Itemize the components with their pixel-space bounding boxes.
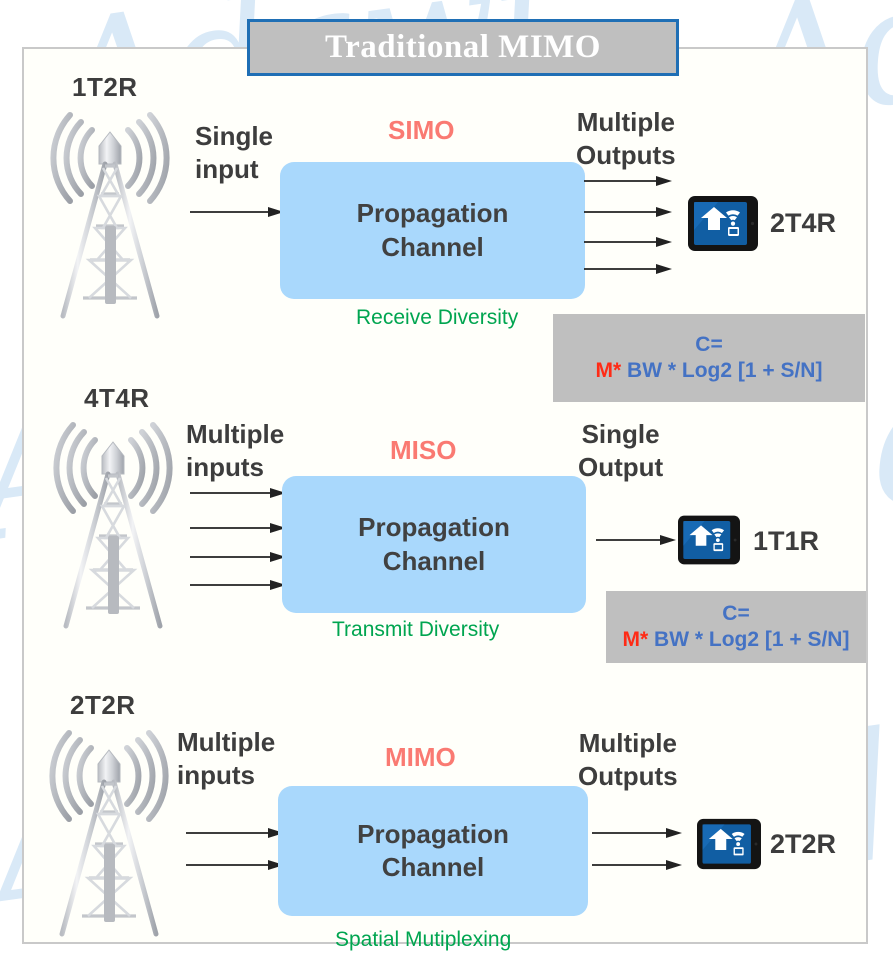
cell-tower-icon — [44, 726, 174, 941]
right-arrow-icon — [584, 263, 674, 275]
output-label-row1: Multiple Outputs — [576, 106, 676, 173]
output-label-line1: Single — [582, 419, 660, 449]
device-label-row1: 2T4R — [770, 208, 836, 239]
right-arrow-icon — [596, 534, 678, 546]
device-label-row3: 2T2R — [770, 829, 836, 860]
input-label-row1: Single input — [195, 120, 273, 187]
tower-label-row1: 1T2R — [72, 72, 138, 103]
channel-line1: Propagation — [358, 511, 510, 544]
right-arrow-icon — [186, 859, 286, 871]
input-label-row3: Multiple inputs — [177, 726, 275, 793]
formula-line2: M* BW * Log2 [1 + S/N] — [596, 358, 823, 384]
output-label-row2: Single Output — [578, 418, 663, 485]
output-label-line2: Outputs — [578, 761, 678, 791]
tablet-home-wifi-icon — [697, 818, 761, 870]
diagram-canvas: Adawi Adawi Adawi Adawi Adawi Adawi 1T2R — [0, 0, 893, 966]
output-label-row3: Multiple Outputs — [578, 727, 678, 794]
propagation-channel-row1: Propagation Channel — [280, 162, 585, 299]
input-label-line1: Single — [195, 121, 273, 151]
input-label-line2: input — [195, 154, 259, 184]
formula-line1: C= — [722, 601, 749, 627]
right-arrow-icon — [592, 827, 684, 839]
input-label-line1: Multiple — [186, 419, 284, 449]
formula-m-term: M* — [596, 359, 622, 382]
input-label-line2: inputs — [186, 452, 264, 482]
page-title: Traditional MIMO — [325, 29, 601, 66]
formula-rest: BW * Log2 [1 + S/N] — [648, 628, 849, 651]
caption-row1: Receive Diversity — [356, 306, 518, 330]
right-arrow-icon — [190, 522, 288, 534]
diagram-content: 1T2R — [0, 0, 893, 966]
cell-tower-icon — [48, 418, 178, 633]
right-arrow-icon — [190, 551, 288, 563]
input-label-row2: Multiple inputs — [186, 418, 284, 485]
input-label-line1: Multiple — [177, 727, 275, 757]
tablet-home-wifi-icon — [678, 515, 740, 565]
mode-label-row1: SIMO — [388, 115, 454, 146]
channel-line1: Propagation — [357, 818, 509, 851]
caption-row2: Transmit Diversity — [332, 618, 499, 642]
channel-line2: Channel — [383, 545, 486, 578]
input-label-line2: inputs — [177, 760, 255, 790]
formula-m-term: M* — [623, 628, 649, 651]
capacity-formula-row2: C= M* BW * Log2 [1 + S/N] — [606, 591, 866, 663]
mode-label-row2: MISO — [390, 435, 456, 466]
right-arrow-icon — [584, 175, 674, 187]
right-arrow-icon — [592, 859, 684, 871]
mode-label-row3: MIMO — [385, 742, 456, 773]
propagation-channel-row2: Propagation Channel — [282, 476, 586, 613]
output-label-line2: Output — [578, 452, 663, 482]
right-arrow-icon — [584, 206, 674, 218]
formula-line2: M* BW * Log2 [1 + S/N] — [623, 627, 850, 653]
channel-line1: Propagation — [357, 197, 509, 230]
output-label-line1: Multiple — [577, 107, 675, 137]
formula-rest: BW * Log2 [1 + S/N] — [621, 359, 822, 382]
formula-line1: C= — [695, 332, 722, 358]
right-arrow-icon — [190, 206, 286, 218]
capacity-formula-row1: C= M* BW * Log2 [1 + S/N] — [553, 314, 865, 402]
caption-row3: Spatial Mutiplexing — [335, 928, 511, 952]
output-label-line2: Outputs — [576, 140, 676, 170]
tower-label-row3: 2T2R — [70, 690, 136, 721]
right-arrow-icon — [190, 579, 288, 591]
channel-line2: Channel — [382, 851, 485, 884]
cell-tower-icon — [45, 108, 175, 323]
right-arrow-icon — [186, 827, 286, 839]
right-arrow-icon — [584, 236, 674, 248]
output-label-line1: Multiple — [579, 728, 677, 758]
channel-line2: Channel — [381, 231, 484, 264]
propagation-channel-row3: Propagation Channel — [278, 786, 588, 916]
tower-label-row2: 4T4R — [84, 383, 150, 414]
diagram-title-box: Traditional MIMO — [247, 19, 679, 76]
device-label-row2: 1T1R — [753, 526, 819, 557]
tablet-home-wifi-icon — [688, 196, 758, 251]
right-arrow-icon — [190, 487, 288, 499]
